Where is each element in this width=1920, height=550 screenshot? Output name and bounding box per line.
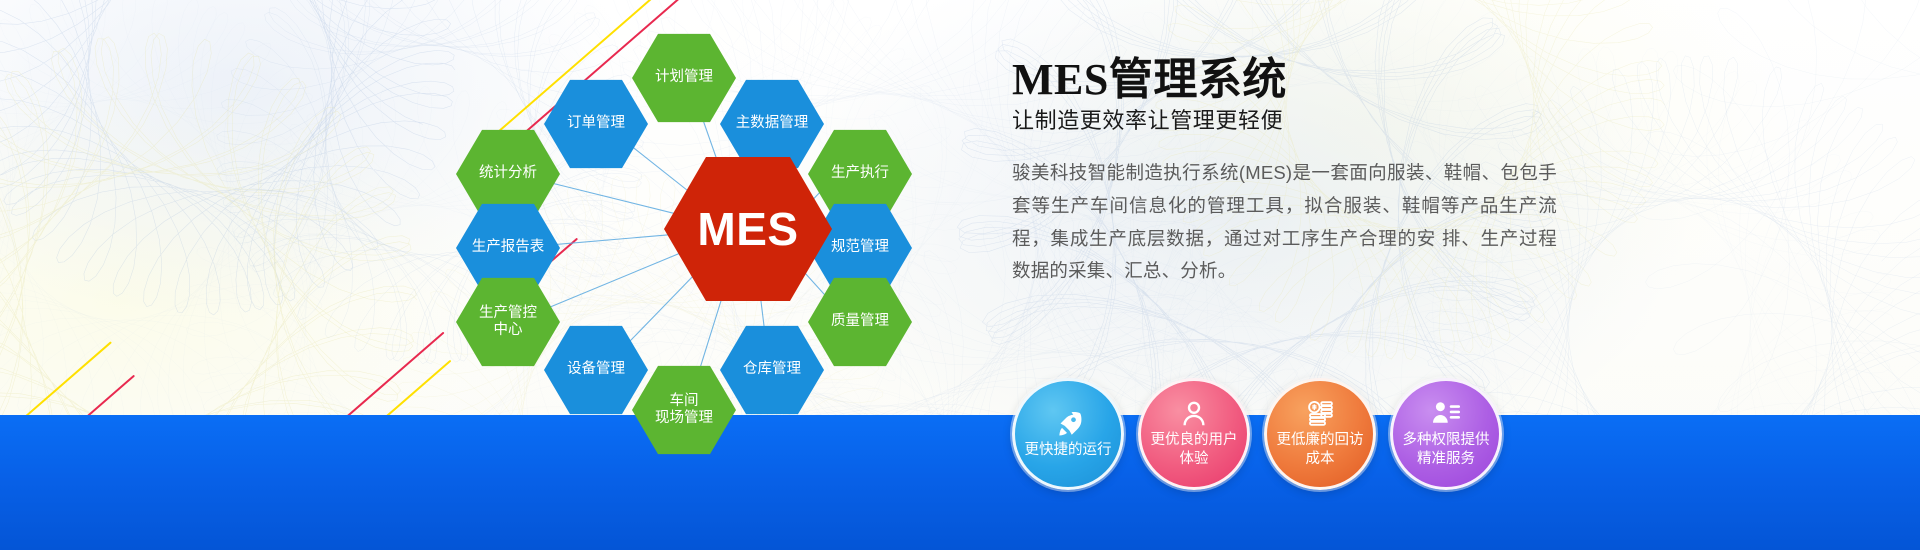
accent-line [20, 341, 112, 422]
connector-line [549, 253, 681, 308]
hexagon-node-label: 订单管理 [561, 115, 631, 132]
hexagon-node-label: 统计分析 [473, 165, 543, 182]
hexagon-node-label: 规范管理 [825, 239, 895, 256]
connector-line [551, 183, 678, 214]
connector-line [699, 291, 724, 372]
feature-badge-4[interactable]: 多种权限提供精准服务 [1390, 378, 1502, 490]
hexagon-center-label: MES [691, 202, 804, 256]
feature-badges: 更快捷的运行更优良的用户体验更低廉的回访成本多种权限提供精准服务 [1012, 378, 1502, 490]
feature-badge-3[interactable]: 更低廉的回访成本 [1264, 378, 1376, 490]
hexagon-node-label: 生产管控中心 [473, 305, 543, 339]
feature-badge-label: 多种权限提供精准服务 [1395, 431, 1498, 468]
connector-line [552, 234, 676, 245]
hexagon-node-label: 设备管理 [561, 361, 631, 378]
hero-description: 骏美科技智能制造执行系统(MES)是一套面向服装、鞋帽、包包手套等生产车间信息化… [1012, 157, 1557, 289]
coins-icon [1305, 399, 1335, 429]
feature-badge-label: 更低廉的回访成本 [1269, 431, 1372, 468]
hexagon-node-label: 仓库管理 [737, 361, 807, 378]
connector-line [803, 271, 826, 296]
hero-text-column: MES管理系统 让制造更效率让管理更轻便 骏美科技智能制造执行系统(MES)是一… [1012, 55, 1612, 288]
hexagon-node-label: 生产执行 [825, 165, 895, 182]
hexagon-node-label: 计划管理 [649, 69, 719, 86]
permissions-icon [1431, 399, 1461, 429]
connector-line [628, 274, 695, 343]
hexagon-node-label: 质量管理 [825, 313, 895, 330]
mes-hexagon-diagram: 计划管理订单管理主数据管理统计分析生产执行生产报告表规范管理生产管控中心质量管理… [420, 14, 980, 444]
mes-hero-banner: 计划管理订单管理主数据管理统计分析生产执行生产报告表规范管理生产管控中心质量管理… [0, 0, 1920, 550]
hexagon-node-label: 生产报告表 [466, 239, 551, 256]
hexagon-node-label: 主数据管理 [730, 115, 815, 132]
page-subtitle: 让制造更效率让管理更轻便 [1012, 108, 1612, 134]
feature-badge-1[interactable]: 更快捷的运行 [1012, 378, 1124, 490]
feature-badge-label: 更快捷的运行 [1017, 441, 1120, 460]
rocket-icon [1053, 409, 1083, 439]
feature-badge-label: 更优良的用户体验 [1143, 431, 1246, 468]
user-icon [1179, 399, 1209, 429]
connector-line [632, 147, 689, 192]
feature-badge-2[interactable]: 更优良的用户体验 [1138, 378, 1250, 490]
hexagon-node-label: 车间现场管理 [649, 393, 719, 427]
page-title: MES管理系统 [1012, 55, 1612, 104]
